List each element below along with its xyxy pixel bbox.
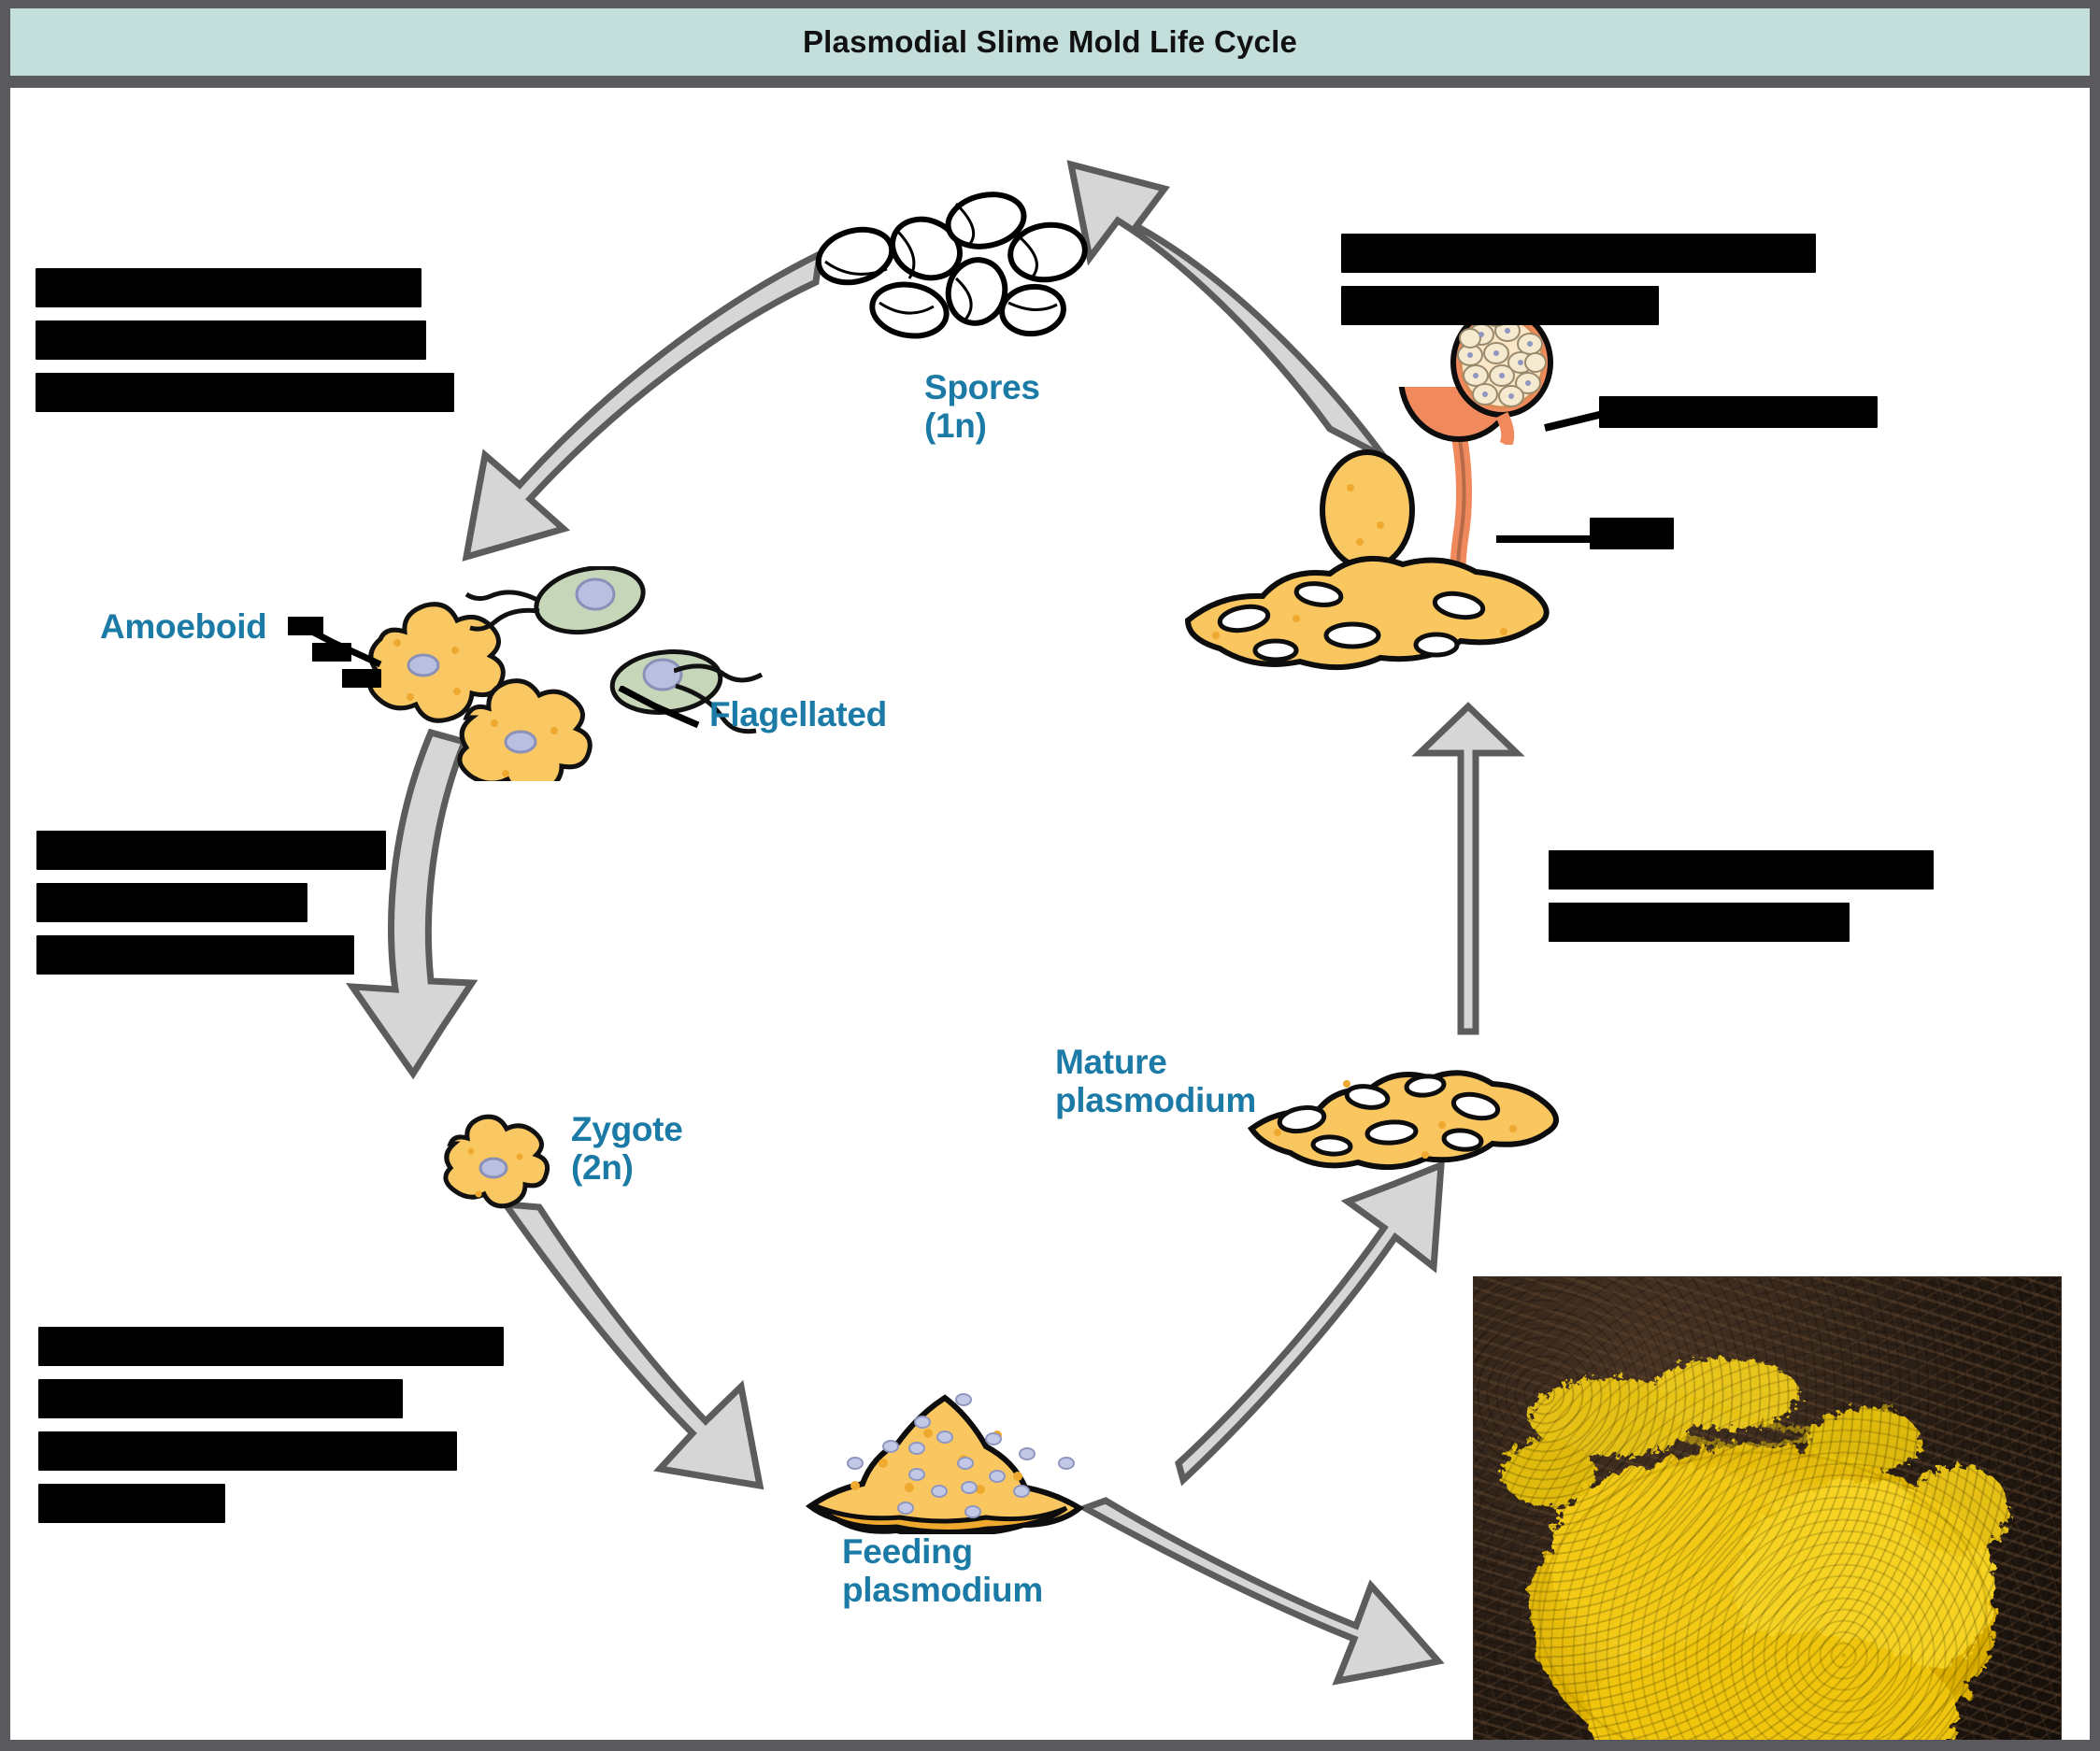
amoeboid-leader-line (291, 616, 412, 681)
label-flagellated: Flagellated (709, 695, 887, 733)
arrow-mature-to-sporangium (1420, 706, 1517, 1032)
photo-slime-shape (1474, 1277, 2061, 1740)
label-amoeboid: Amoeboid (100, 607, 266, 646)
label-feeding-plasmodium: Feeding plasmodium (842, 1532, 1043, 1610)
arrow-feeding-to-mature (1179, 1165, 1441, 1480)
slime-mold-photograph (1473, 1276, 2062, 1740)
label-zygote: Zygote (2n) (571, 1110, 682, 1188)
annotation-mid-right (1549, 850, 1934, 942)
feeding-mound-icon (797, 1366, 1124, 1534)
stalk-label-redaction (1590, 518, 1674, 549)
zygote-icon (436, 1106, 557, 1209)
spore-icon (816, 189, 1096, 366)
plasmodium-network-icon (1242, 1039, 1560, 1170)
annotation-top-left (36, 268, 454, 412)
arrow-spores-germinate (466, 254, 820, 557)
flagellated-leader-line (618, 686, 730, 742)
annotation-mid-left (36, 831, 386, 975)
figure-title-bar: Plasmodial Slime Mold Life Cycle (10, 8, 2090, 76)
diagram-canvas: .arw{ fill:#d6d6d6; stroke:#5c5c5c; stro… (10, 88, 2090, 1740)
arrow-mitosis-to-plasmodium (506, 1204, 760, 1486)
label-mature-plasmodium: Mature plasmodium (1055, 1043, 1256, 1120)
label-spores: Spores (1n) (924, 368, 1040, 446)
page-title: Plasmodial Slime Mold Life Cycle (803, 24, 1297, 60)
figure-frame: Plasmodial Slime Mold Life Cycle .arw{ f… (0, 0, 2100, 1751)
sporangium-label-redaction (1599, 396, 1878, 428)
arrow-plasmodium-to-photo (1085, 1501, 1438, 1681)
annotation-bottom-left (38, 1327, 504, 1523)
annotation-top-right (1341, 234, 1816, 325)
